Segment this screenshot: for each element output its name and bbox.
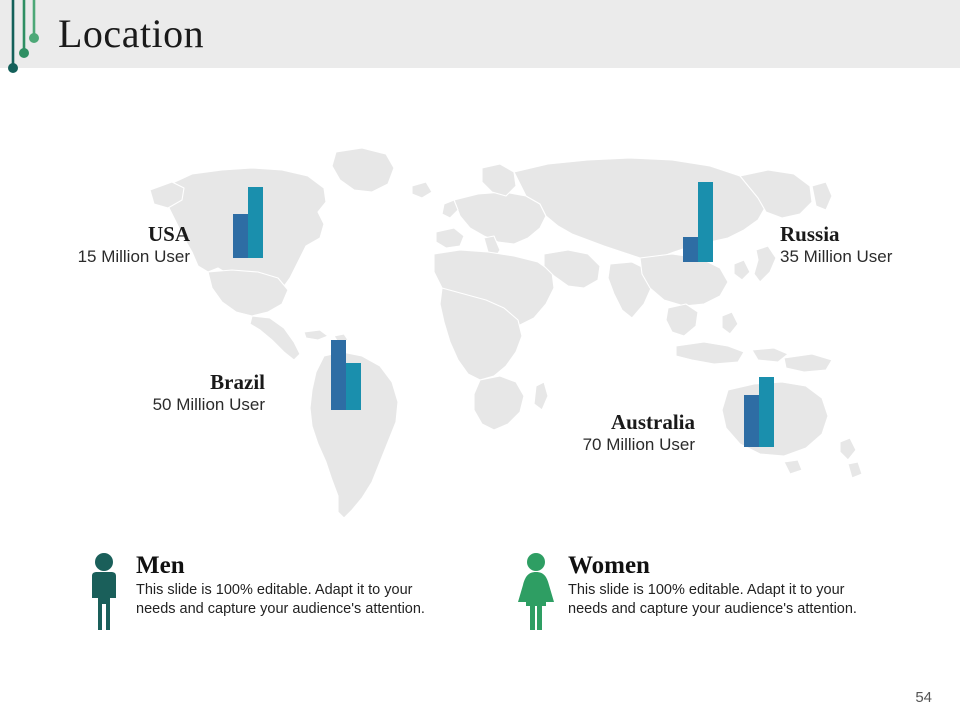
bar-men-usa [233, 214, 248, 258]
legend-title-women: Women [568, 552, 868, 580]
marker-bars-brazil [331, 340, 361, 410]
legend-text-men: Men This slide is 100% editable. Adapt i… [136, 552, 436, 619]
marker-label-brazil: Brazil 50 Million User [60, 370, 265, 416]
bar-women-russia [698, 182, 713, 262]
marker-country-brazil: Brazil [60, 370, 265, 394]
slide-location: Location [0, 0, 960, 720]
three-line-dot-accent-icon [0, 0, 46, 80]
male-person-icon [82, 552, 126, 630]
bar-men-australia [744, 395, 759, 447]
bar-women-brazil [346, 363, 361, 410]
bar-men-brazil [331, 340, 346, 410]
marker-users-russia: 35 Million User [780, 246, 930, 268]
marker-users-brazil: 50 Million User [60, 394, 265, 416]
marker-bars-usa [233, 187, 263, 258]
marker-bars-russia [683, 182, 713, 262]
bar-women-usa [248, 187, 263, 258]
legend-text-women: Women This slide is 100% editable. Adapt… [568, 552, 868, 619]
marker-label-australia: Australia 70 Million User [440, 410, 695, 456]
marker-label-russia: Russia 35 Million User [780, 222, 930, 268]
marker-country-russia: Russia [780, 222, 930, 246]
bar-women-australia [759, 377, 774, 447]
legend-title-men: Men [136, 552, 436, 580]
marker-users-australia: 70 Million User [440, 434, 695, 456]
marker-country-usa: USA [60, 222, 190, 246]
legend-item-men: Men This slide is 100% editable. Adapt i… [82, 552, 436, 630]
marker-users-usa: 15 Million User [60, 246, 190, 268]
marker-country-australia: Australia [440, 410, 695, 434]
legend-item-women: Women This slide is 100% editable. Adapt… [514, 552, 868, 630]
legend-desc-women: This slide is 100% editable. Adapt it to… [568, 581, 868, 619]
page-number: 54 [915, 689, 932, 706]
marker-bars-australia [744, 377, 774, 447]
marker-label-usa: USA 15 Million User [60, 222, 190, 268]
legend-desc-men: This slide is 100% editable. Adapt it to… [136, 581, 436, 619]
page-title: Location [58, 10, 204, 58]
bar-men-russia [683, 237, 698, 262]
female-person-icon [514, 552, 558, 630]
